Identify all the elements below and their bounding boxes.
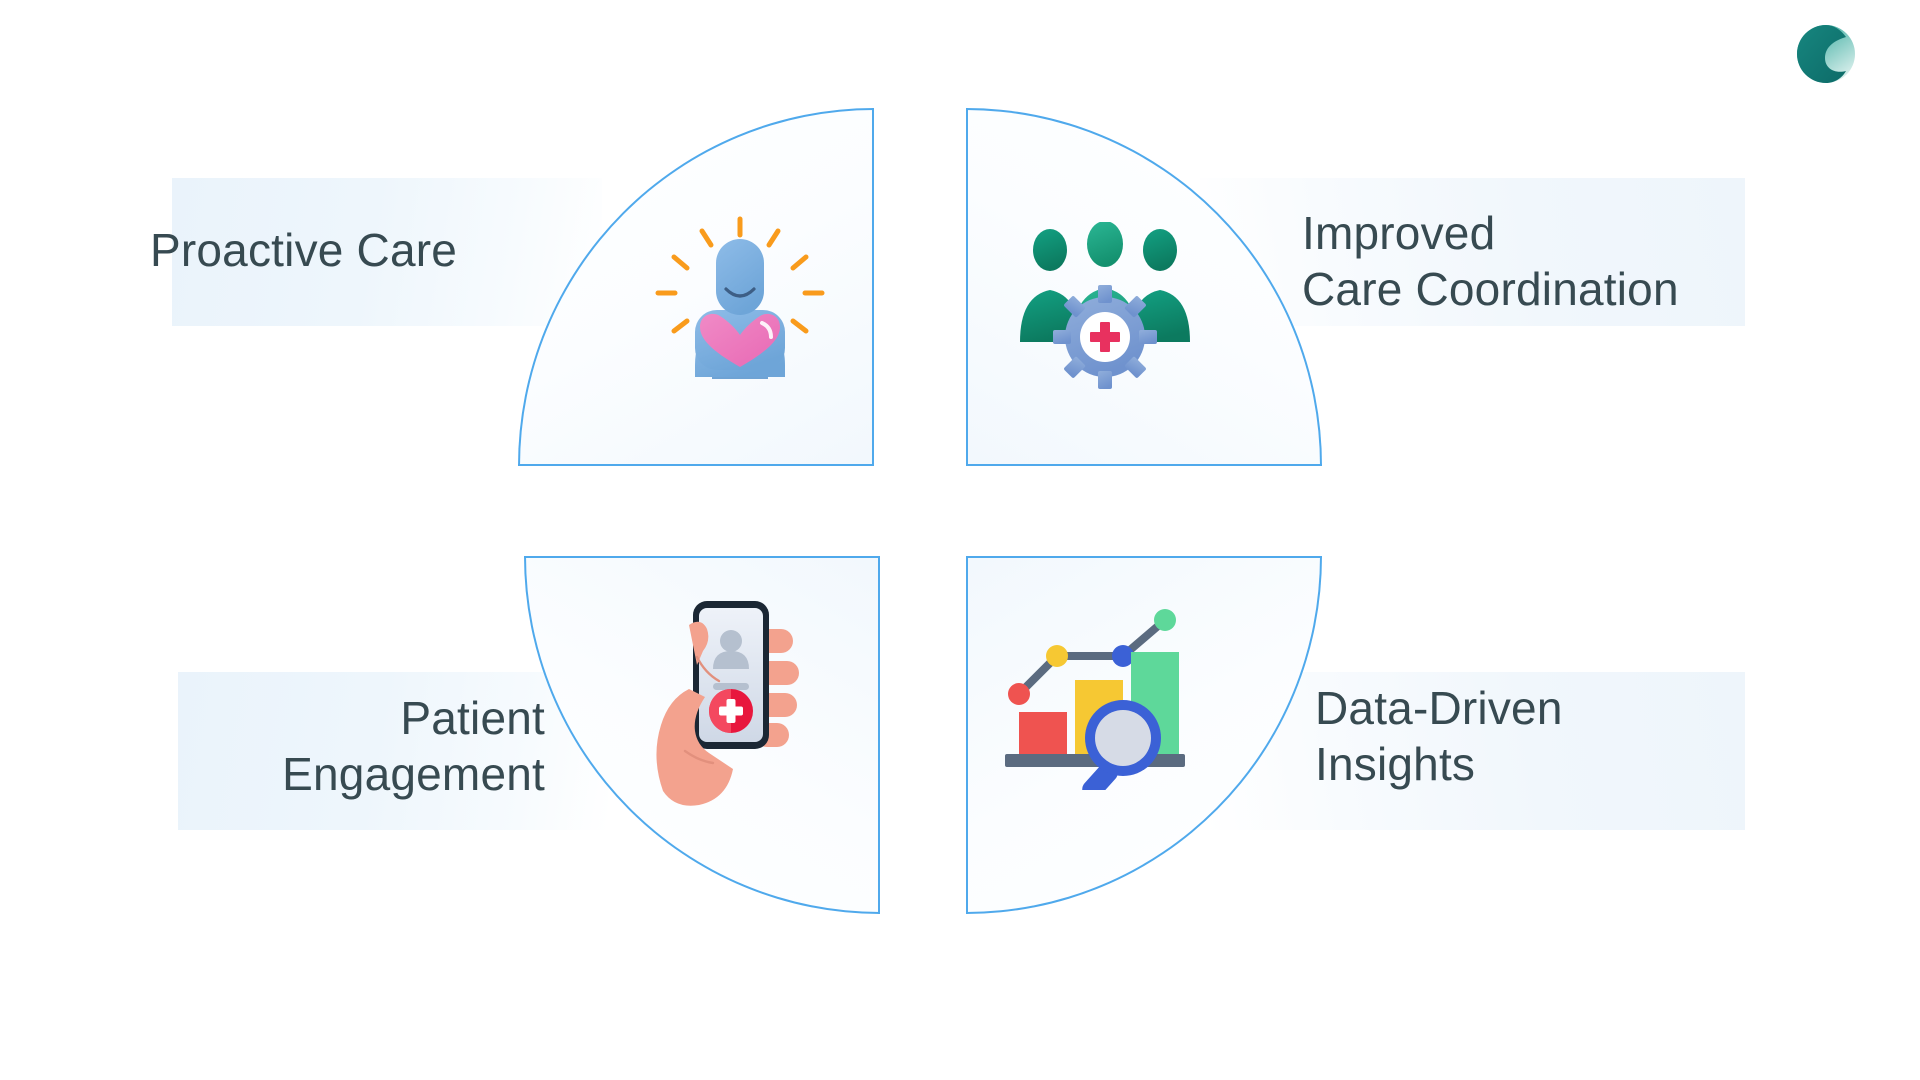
bar-1 (1019, 712, 1067, 754)
label-patient-engagement: Patient Engagement (150, 690, 545, 802)
teal-circle-leaf-logo (1794, 22, 1858, 86)
text-placeholder-bar (713, 683, 749, 690)
person-with-heart-icon (640, 215, 840, 395)
label-data-driven-insights: Data-Driven Insights (1315, 680, 1875, 792)
label-proactive-care: Proactive Care (150, 222, 580, 278)
slide-canvas: Proactive Care (0, 0, 1920, 1080)
phone-device (693, 601, 769, 749)
medical-cross-badge (709, 689, 753, 733)
bar-chart-magnifier-icon (995, 590, 1195, 790)
team-gear-medical-cross-icon (1018, 222, 1194, 392)
data-point-2 (1046, 645, 1068, 667)
label-improved-care-coordination: Improved Care Coordination (1302, 205, 1862, 317)
data-point-4 (1154, 609, 1176, 631)
brand-logo (1794, 22, 1858, 86)
data-point-3 (1112, 645, 1134, 667)
hand-holding-phone-medical-icon (645, 595, 830, 810)
data-point-1 (1008, 683, 1030, 705)
gear-shape (1053, 285, 1157, 389)
